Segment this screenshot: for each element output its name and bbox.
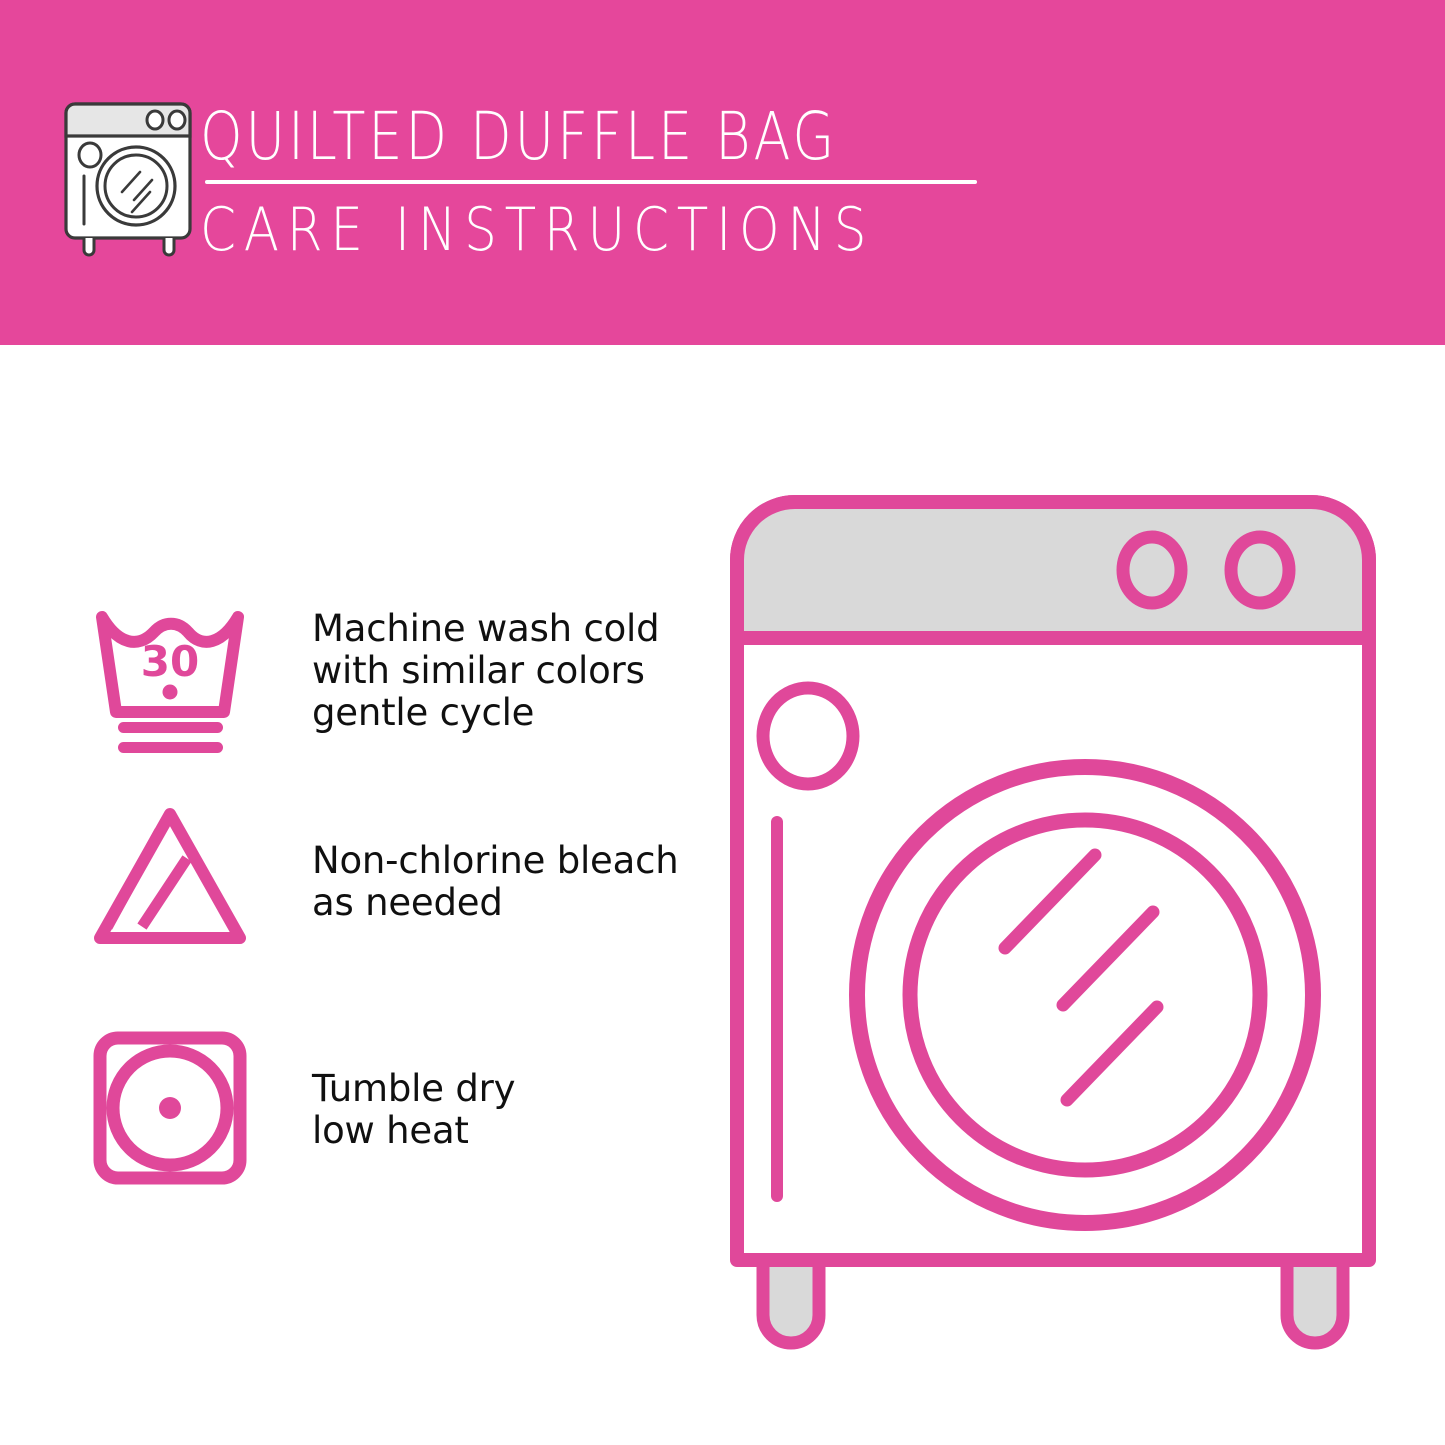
care-text-line: gentle cycle [312,692,659,734]
care-instruction-row-bleach: Non-chlorine bleach as needed [88,800,679,965]
care-instruction-row-wash: 30 Machine wash cold with similar colors… [88,600,659,765]
care-text-line: Tumble dry [312,1068,515,1110]
title-divider [205,180,977,184]
care-instruction-text-wash: Machine wash cold with similar colors ge… [312,608,659,734]
care-instruction-row-dry: Tumble dry low heat [88,1030,515,1195]
care-text-line: Non-chlorine bleach [312,840,679,882]
washing-machine-illustration [715,470,1415,1370]
page-title: QUILTED DUFFLE BAG [200,100,848,174]
care-instruction-text-bleach: Non-chlorine bleach as needed [312,840,679,924]
bleach-triangle-non-chlorine-icon [88,800,253,965]
page-subtitle: CARE INSTRUCTIONS [200,196,879,264]
wash-temperature-label: 30 [141,637,199,686]
care-text-line: Machine wash cold [312,608,659,650]
care-text-line: low heat [312,1110,515,1152]
care-text-line: with similar colors [312,650,659,692]
washing-machine-icon [58,98,198,258]
header-text-block: QUILTED DUFFLE BAG CARE INSTRUCTIONS [200,100,990,264]
wash-tub-30-gentle-icon: 30 [88,600,253,765]
tumble-dry-low-heat-icon [88,1030,253,1195]
care-text-line: as needed [312,882,679,924]
header-banner: QUILTED DUFFLE BAG CARE INSTRUCTIONS [0,0,1445,345]
care-instruction-text-dry: Tumble dry low heat [312,1068,515,1152]
